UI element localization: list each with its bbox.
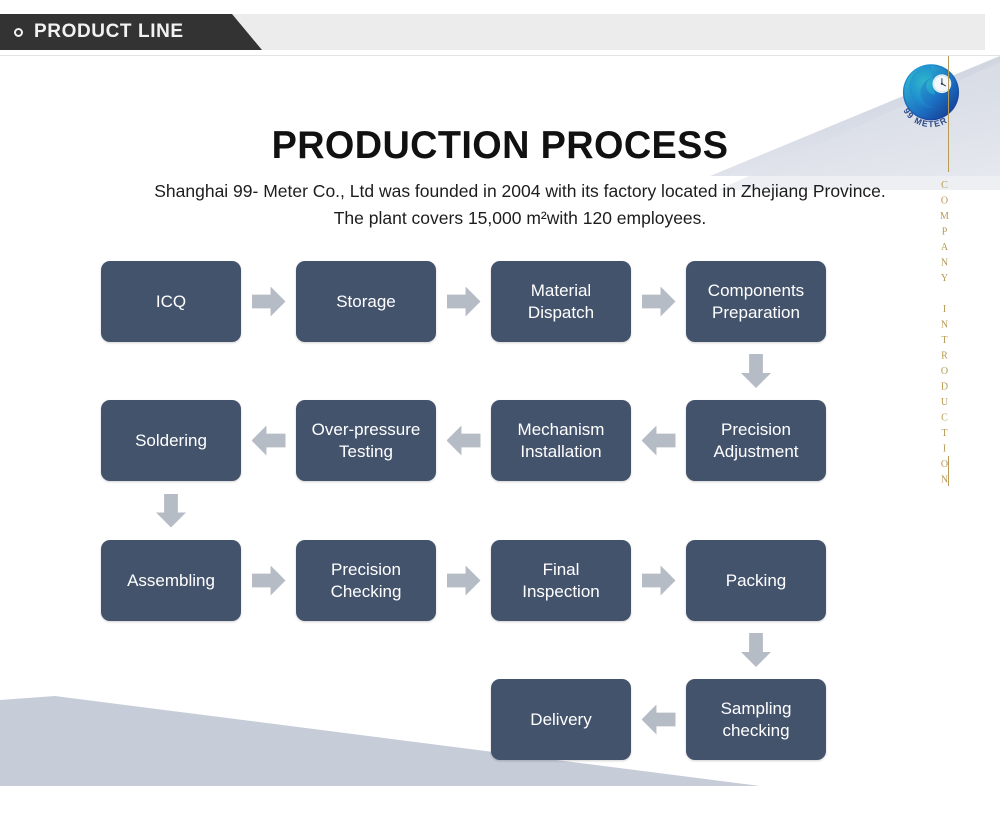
flow-step-packing: Packing (686, 540, 826, 621)
flow-step-label: Precision (721, 420, 791, 439)
circle-outline-icon (14, 28, 23, 37)
flow-connector-mechanism-to-over-pressure (447, 426, 481, 456)
flow-step-material-dispatch: MaterialDispatch (491, 261, 631, 342)
flow-step-label: Preparation (712, 303, 800, 322)
flow-step-label: Packing (726, 571, 786, 590)
flow-step-label: Components (708, 281, 804, 300)
flow-connector-precision-checking-to-final-inspection (447, 566, 481, 596)
flow-step-delivery: Delivery (491, 679, 631, 760)
header-section-tab[interactable]: PRODUCT LINE (0, 14, 262, 50)
flow-step-text: MechanismInstallation (518, 419, 605, 463)
rail-label: COMPANY INTRODUCTION (939, 180, 950, 490)
flow-step-label: Final (543, 560, 580, 579)
flow-step-mechanism-installation: MechanismInstallation (491, 400, 631, 481)
flow-step-text: Assembling (127, 570, 215, 592)
flow-connector-assembling-to-precision-checking (252, 566, 286, 596)
flow-step-label: Checking (331, 582, 402, 601)
flow-connector-packing-to-sampling-checking (741, 633, 771, 667)
flow-step-text: Storage (336, 291, 396, 313)
flow-step-text: Delivery (530, 709, 591, 731)
flow-connector-material-dispatch-to-components (642, 287, 676, 317)
flow-step-text: FinalInspection (522, 559, 600, 603)
flow-step-text: ComponentsPreparation (708, 280, 804, 324)
flow-step-label: ICQ (156, 292, 186, 311)
flow-step-assembling: Assembling (101, 540, 241, 621)
flow-step-label: Installation (520, 442, 601, 461)
rail-line-bottom (948, 456, 949, 486)
flow-connector-sampling-checking-to-delivery (642, 705, 676, 735)
flow-step-label: Dispatch (528, 303, 594, 322)
flow-step-text: ICQ (156, 291, 186, 313)
page-title: PRODUCTION PROCESS (15, 124, 985, 168)
flow-step-label: checking (722, 721, 789, 740)
flow-connector-final-inspection-to-packing (642, 566, 676, 596)
flow-step-label: Adjustment (713, 442, 798, 461)
flow-step-text: Over-pressureTesting (312, 419, 421, 463)
flow-step-text: Packing (726, 570, 786, 592)
flow-step-sampling-checking: Samplingchecking (686, 679, 826, 760)
flow-step-over-pressure-testing: Over-pressureTesting (296, 400, 436, 481)
flow-step-components-preparation: ComponentsPreparation (686, 261, 826, 342)
flow-step-label: Assembling (127, 571, 215, 590)
flow-connector-soldering-to-assembling (156, 494, 186, 528)
flow-step-label: Material (531, 281, 591, 300)
flow-connector-precision-adjustment-to-mechanism (642, 426, 676, 456)
flow-connector-storage-to-material-dispatch (447, 287, 481, 317)
flow-step-storage: Storage (296, 261, 436, 342)
flow-step-label: Inspection (522, 582, 600, 601)
header-divider (0, 55, 1000, 56)
flow-step-label: Precision (331, 560, 401, 579)
flow-step-label: Soldering (135, 431, 207, 450)
header-tab-label: PRODUCT LINE (34, 21, 184, 43)
flow-step-precision-checking: PrecisionChecking (296, 540, 436, 621)
flow-step-label: Sampling (721, 699, 792, 718)
decorative-wedge-bottom-left (0, 696, 760, 786)
flow-step-text: Samplingchecking (721, 698, 792, 742)
flow-step-label: Testing (339, 442, 393, 461)
flow-step-text: MaterialDispatch (528, 280, 594, 324)
flow-step-label: Storage (336, 292, 396, 311)
flow-step-icq: ICQ (101, 261, 241, 342)
right-rail: COMPANY INTRODUCTION (926, 56, 986, 486)
page-subtitle: Shanghai 99- Meter Co., Ltd was founded … (150, 178, 890, 232)
flow-connector-over-pressure-to-soldering (252, 426, 286, 456)
flow-step-label: Over-pressure (312, 420, 421, 439)
flow-step-label: Delivery (530, 710, 591, 729)
flow-step-label: Mechanism (518, 420, 605, 439)
flow-connector-components-to-precision-adjustment (741, 354, 771, 388)
flow-step-text: Soldering (135, 430, 207, 452)
flow-step-soldering: Soldering (101, 400, 241, 481)
flow-step-precision-adjustment: PrecisionAdjustment (686, 400, 826, 481)
flow-step-text: PrecisionChecking (331, 559, 402, 603)
flow-connector-icq-to-storage (252, 287, 286, 317)
flow-step-text: PrecisionAdjustment (713, 419, 798, 463)
flow-step-final-inspection: FinalInspection (491, 540, 631, 621)
